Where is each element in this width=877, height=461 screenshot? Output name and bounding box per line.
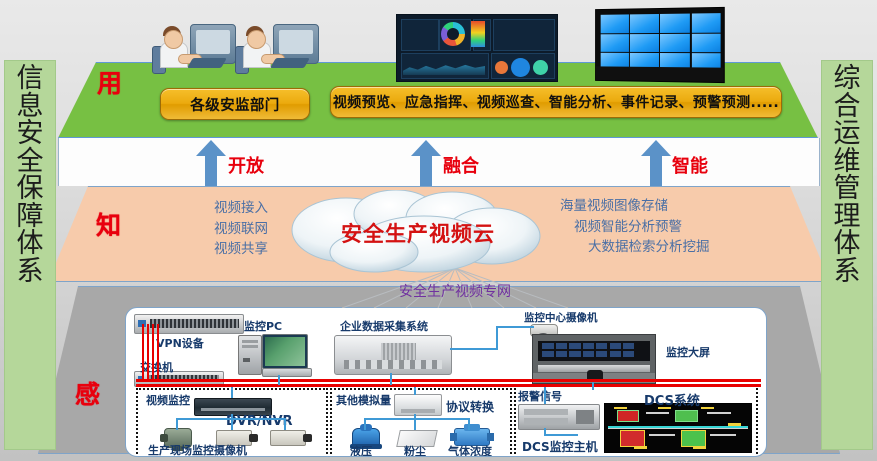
red-riser-1 <box>142 324 144 382</box>
cloud-right-item-2: 大数据检索分析挖掘 <box>560 237 780 258</box>
side-left-char-2: 安 <box>17 120 44 148</box>
caption-field-surveillance-cameras: 生产现场监控摄像机 <box>148 442 247 457</box>
blue-link-cam-1 <box>176 418 178 430</box>
caption-vpn-device: VPN设备 <box>156 335 204 351</box>
up-arrow-intelligent <box>641 140 671 186</box>
caption-control-center-camera: 监控中心摄像机 <box>524 310 598 325</box>
blue-link-acq-to-camera <box>496 326 534 328</box>
red-riser-3 <box>152 324 154 382</box>
side-right-char-7: 系 <box>834 258 861 286</box>
side-left-char-1: 息 <box>17 93 44 121</box>
blue-link-acq-down <box>390 373 392 385</box>
blue-link-cam-2 <box>231 414 233 430</box>
arrow-label-intelligent: 智能 <box>672 152 708 178</box>
red-riser-2 <box>147 324 149 382</box>
side-panel-left-information-security: 信 息 安 全 保 障 体 系 <box>4 60 56 450</box>
side-panel-right-operations-management: 综 合 运 维 管 理 体 系 <box>821 60 873 450</box>
monitor-pc-screen <box>262 334 308 369</box>
up-arrow-open <box>196 140 226 186</box>
analytics-dashboard-image <box>396 14 558 82</box>
side-left-char-5: 障 <box>17 203 44 231</box>
caption-protocol-conversion: 协议转换 <box>446 398 494 415</box>
person-at-computer-illustration-1 <box>150 16 236 72</box>
side-left-char-3: 全 <box>17 148 44 176</box>
caption-other-analog: 其他模拟量 <box>336 392 391 408</box>
cloud-shape: 安全生产视频云 <box>284 190 552 274</box>
side-left-char-0: 信 <box>17 65 44 93</box>
side-right-char-1: 合 <box>834 93 861 121</box>
cloud-left-item-0: 视频接入 <box>128 198 268 219</box>
control-room-photo <box>532 334 656 384</box>
blue-link-acq-right-up <box>496 326 498 350</box>
side-right-char-6: 体 <box>834 230 861 258</box>
caption-gas-concentration: 气体浓度 <box>448 443 492 457</box>
sense-layer-panel: VPN设备 交换机 监控PC 企业数据采集系统 监控中心摄像机 <box>125 307 767 457</box>
blue-link-conv-up <box>414 387 416 395</box>
side-right-char-4: 管 <box>834 175 861 203</box>
up-arrow-converge <box>411 140 441 186</box>
layer-label-apply: 用 <box>97 64 122 100</box>
architecture-diagram: 信 息 安 全 保 障 体 系 综 合 运 维 管 理 体 系 用 知 感 各级… <box>0 0 877 461</box>
cloud-left-item-1: 视频联网 <box>128 219 268 240</box>
caption-dvr-nvr: DVR/NVR <box>226 414 293 429</box>
caption-monitor-pc: 监控PC <box>244 318 282 334</box>
side-right-char-5: 理 <box>834 203 861 231</box>
caption-hydraulic: 液压 <box>350 443 372 457</box>
cloud-left-item-2: 视频共享 <box>128 239 268 260</box>
caption-dcs-system: DCS系统 <box>644 390 700 409</box>
caption-alarm-signal: 报警信号 <box>518 388 562 404</box>
side-right-char-2: 运 <box>834 120 861 148</box>
caption-dcs-host: DCS监控主机 <box>522 438 598 455</box>
side-left-char-6: 体 <box>17 230 44 258</box>
cloud-label-safety-production-video-cloud: 安全生产视频云 <box>284 218 552 248</box>
blue-link-dcs-right <box>544 434 578 436</box>
monitor-pc-tower <box>238 335 262 375</box>
enterprise-data-acquisition-device <box>334 335 452 375</box>
cloud-right-item-1: 视频智能分析预警 <box>560 217 780 238</box>
cloud-left-capabilities: 视频接入 视频联网 视频共享 <box>128 198 268 260</box>
blue-link-ctrlroom <box>592 382 594 390</box>
cloud-right-item-0: 海量视频图像存储 <box>560 196 780 217</box>
blue-link-sensor-bus <box>364 418 470 420</box>
blue-link-sensor-1 <box>364 418 366 430</box>
side-right-char-0: 综 <box>834 65 861 93</box>
video-wall-image <box>595 7 725 83</box>
blue-link-sensor-3 <box>468 418 470 430</box>
box-safety-supervision-departments[interactable]: 各级安监部门 <box>160 88 310 120</box>
side-left-char-7: 系 <box>17 258 44 286</box>
caption-enterprise-data-acquisition: 企业数据采集系统 <box>340 318 428 334</box>
red-bus-line <box>136 379 761 382</box>
layer-label-sense: 感 <box>75 375 100 411</box>
vpn-device-image <box>134 314 244 334</box>
network-label-private-video-network: 安全生产视频专网 <box>330 281 580 301</box>
arrow-label-open: 开放 <box>228 152 264 178</box>
blue-link-pc <box>278 375 280 385</box>
red-riser-4 <box>157 324 159 382</box>
blue-link-acq-right <box>450 348 498 350</box>
person-at-computer-illustration-2 <box>233 16 319 72</box>
blue-link-dcs-up <box>544 387 546 404</box>
caption-video-surveillance: 视频监控 <box>146 392 190 408</box>
layer-label-know: 知 <box>96 206 121 242</box>
red-bus-line-2 <box>136 384 761 387</box>
side-right-char-3: 维 <box>834 148 861 176</box>
box-application-functions[interactable]: 视频预览、应急指挥、视频巡查、智能分析、事件记录、预警预测..... <box>330 86 782 118</box>
cloud-right-capabilities: 海量视频图像存储 视频智能分析预警 大数据检索分析挖掘 <box>560 196 780 258</box>
monitor-pc-keyboard <box>262 368 312 377</box>
blue-link-conv-down <box>414 414 416 430</box>
caption-video-wall-screen: 监控大屏 <box>666 344 710 360</box>
blue-link-dvr-up <box>231 387 233 398</box>
arrow-label-converge: 融合 <box>443 152 479 178</box>
blue-link-cam-3 <box>284 418 286 430</box>
caption-dust: 粉尘 <box>404 443 426 457</box>
side-left-char-4: 保 <box>17 175 44 203</box>
